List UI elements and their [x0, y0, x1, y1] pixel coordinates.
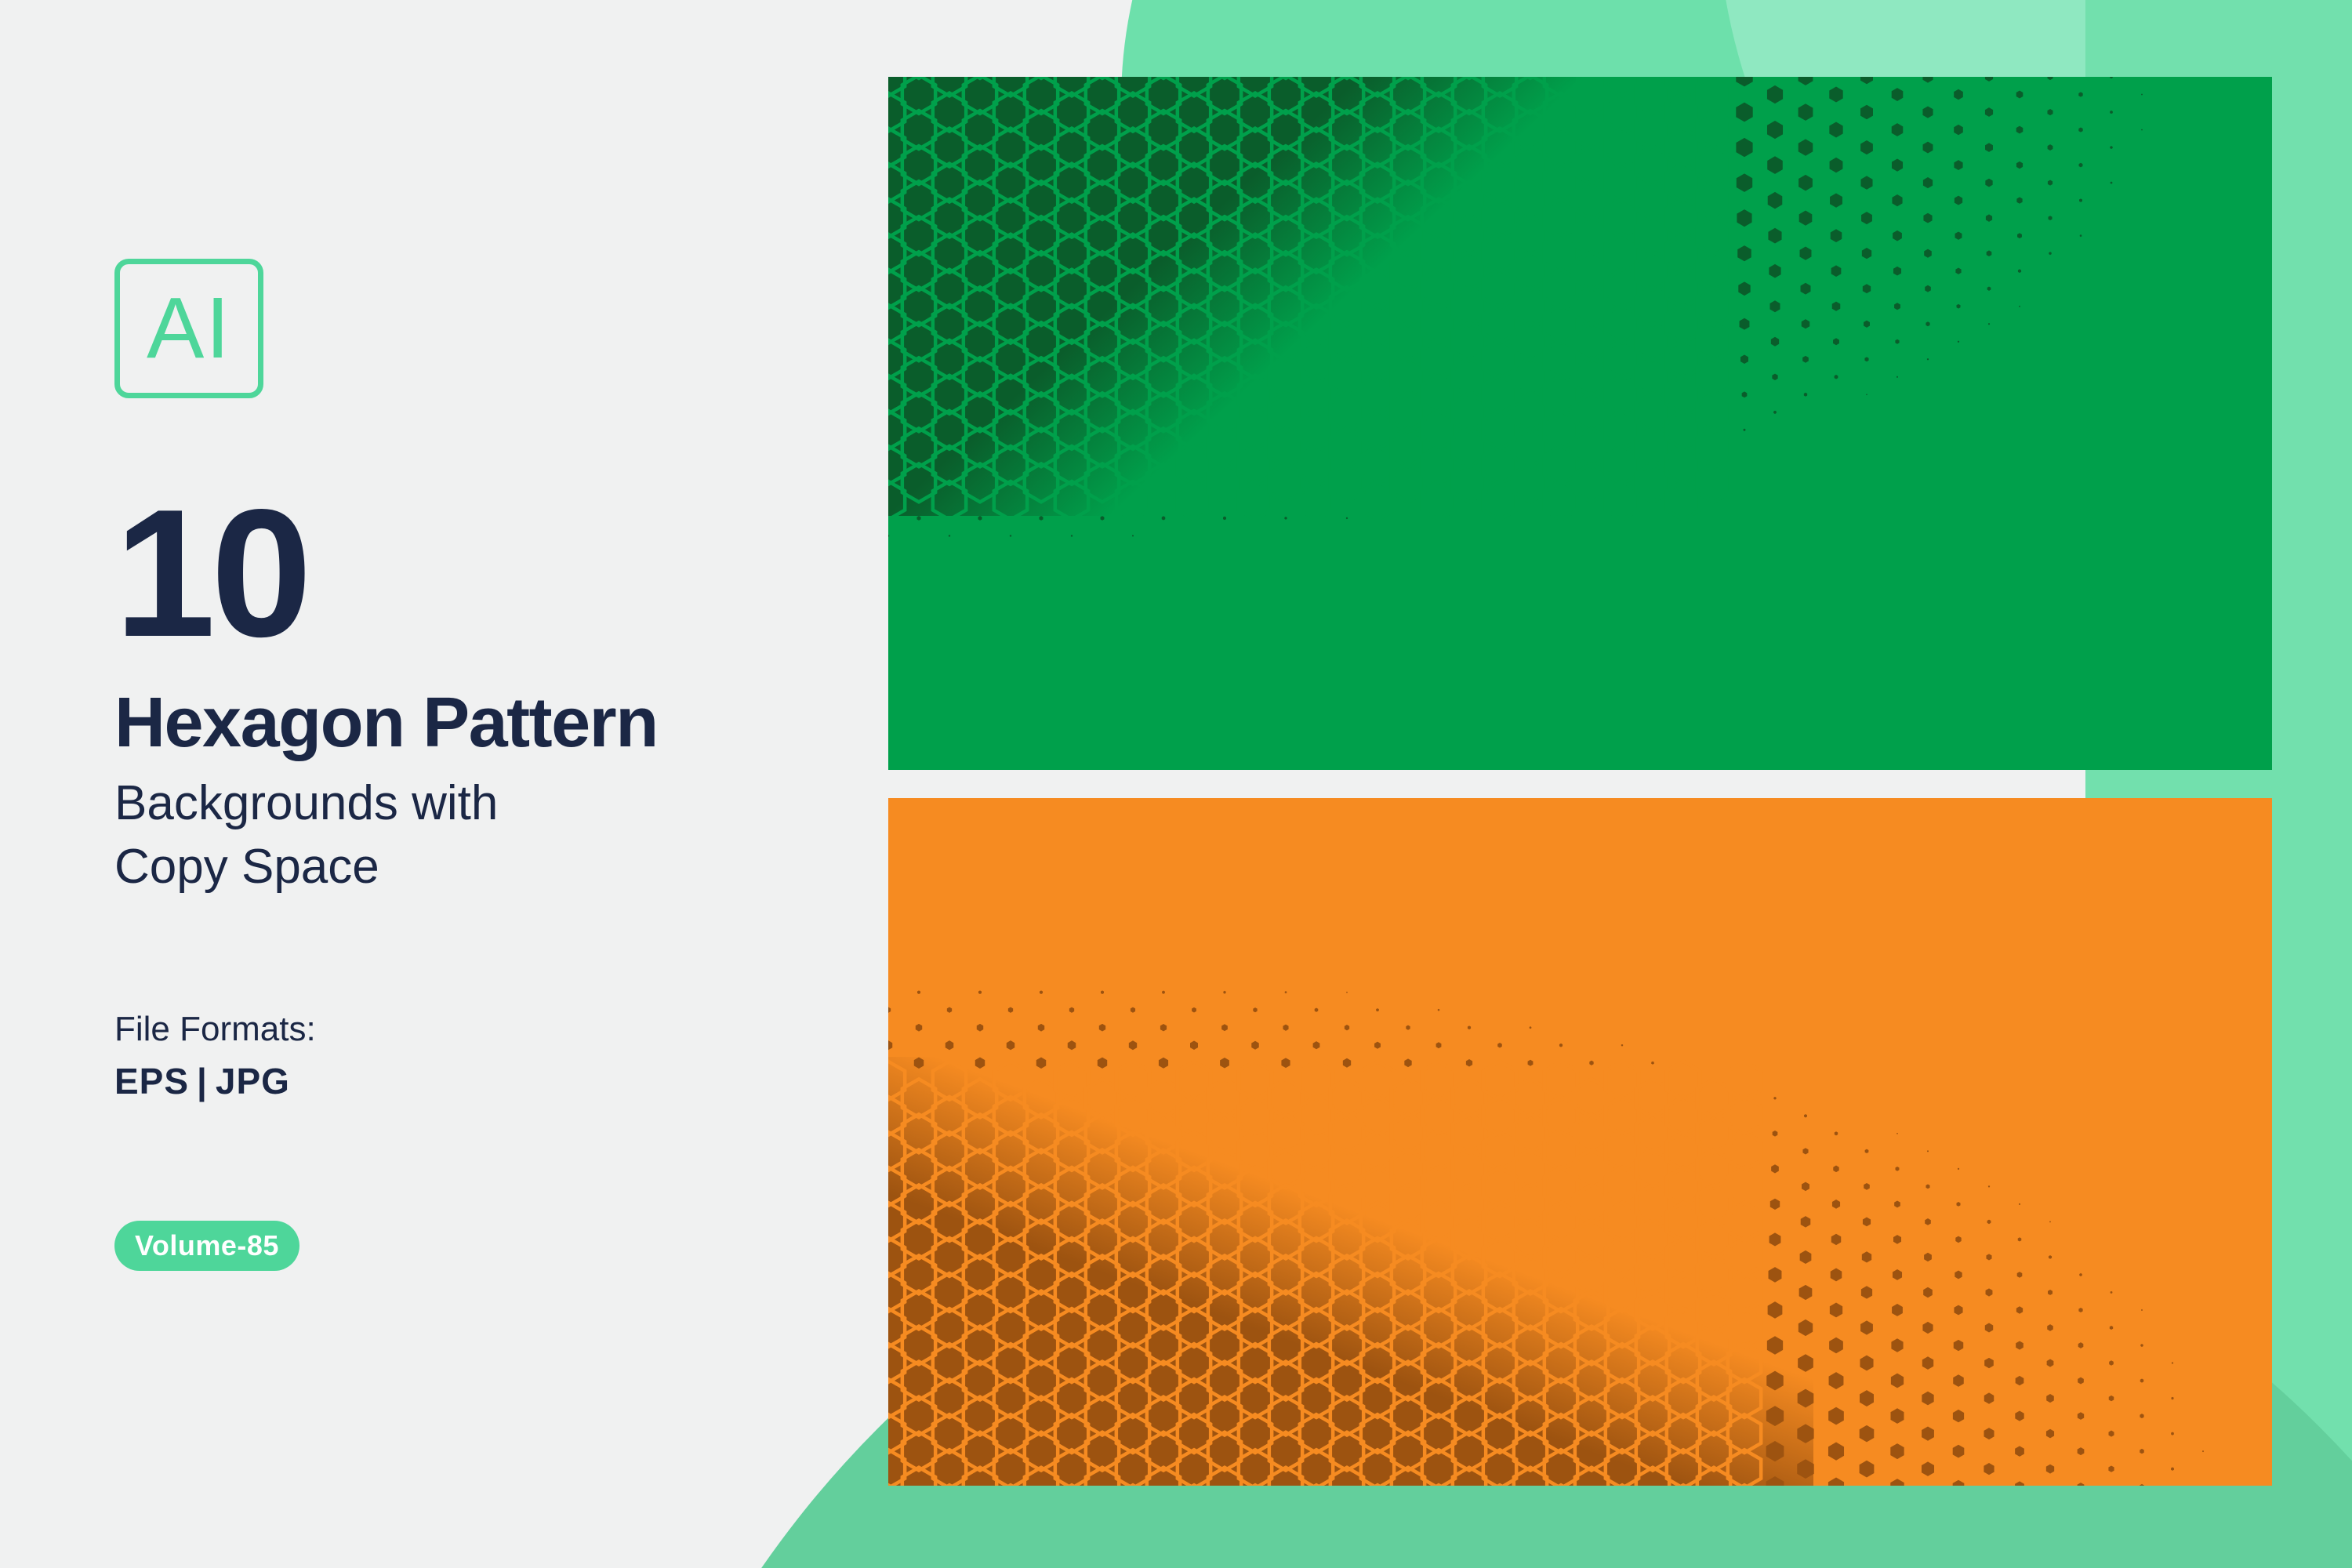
page-subtitle-line-1: Backgrounds with	[114, 772, 498, 836]
info-column: AI 10 Hexagon Pattern Backgrounds with C…	[114, 0, 851, 1568]
file-formats-value: EPS|JPG	[114, 1060, 290, 1102]
adobe-illustrator-badge-icon: AI	[114, 259, 263, 398]
file-formats-label: File Formats:	[114, 1010, 316, 1049]
orange-hexagon-preview[interactable]	[888, 798, 2272, 1486]
file-format-jpg: JPG	[216, 1061, 290, 1102]
volume-badge: Volume-85	[114, 1221, 299, 1271]
file-format-eps: EPS	[114, 1061, 189, 1102]
item-count: 10	[114, 490, 307, 657]
green-hexagon-pattern	[888, 77, 2272, 770]
preview-canvas: AI 10 Hexagon Pattern Backgrounds with C…	[0, 0, 2352, 1568]
page-title: Hexagon Pattern	[114, 686, 658, 760]
orange-hexagon-pattern	[888, 798, 2272, 1486]
file-formats-separator: |	[189, 1061, 216, 1102]
page-subtitle-line-2: Copy Space	[114, 836, 498, 899]
green-hexagon-preview[interactable]	[888, 77, 2272, 770]
volume-badge-label: Volume-85	[135, 1229, 279, 1262]
page-subtitle: Backgrounds with Copy Space	[114, 772, 498, 898]
adobe-illustrator-badge-label: AI	[147, 285, 231, 372]
